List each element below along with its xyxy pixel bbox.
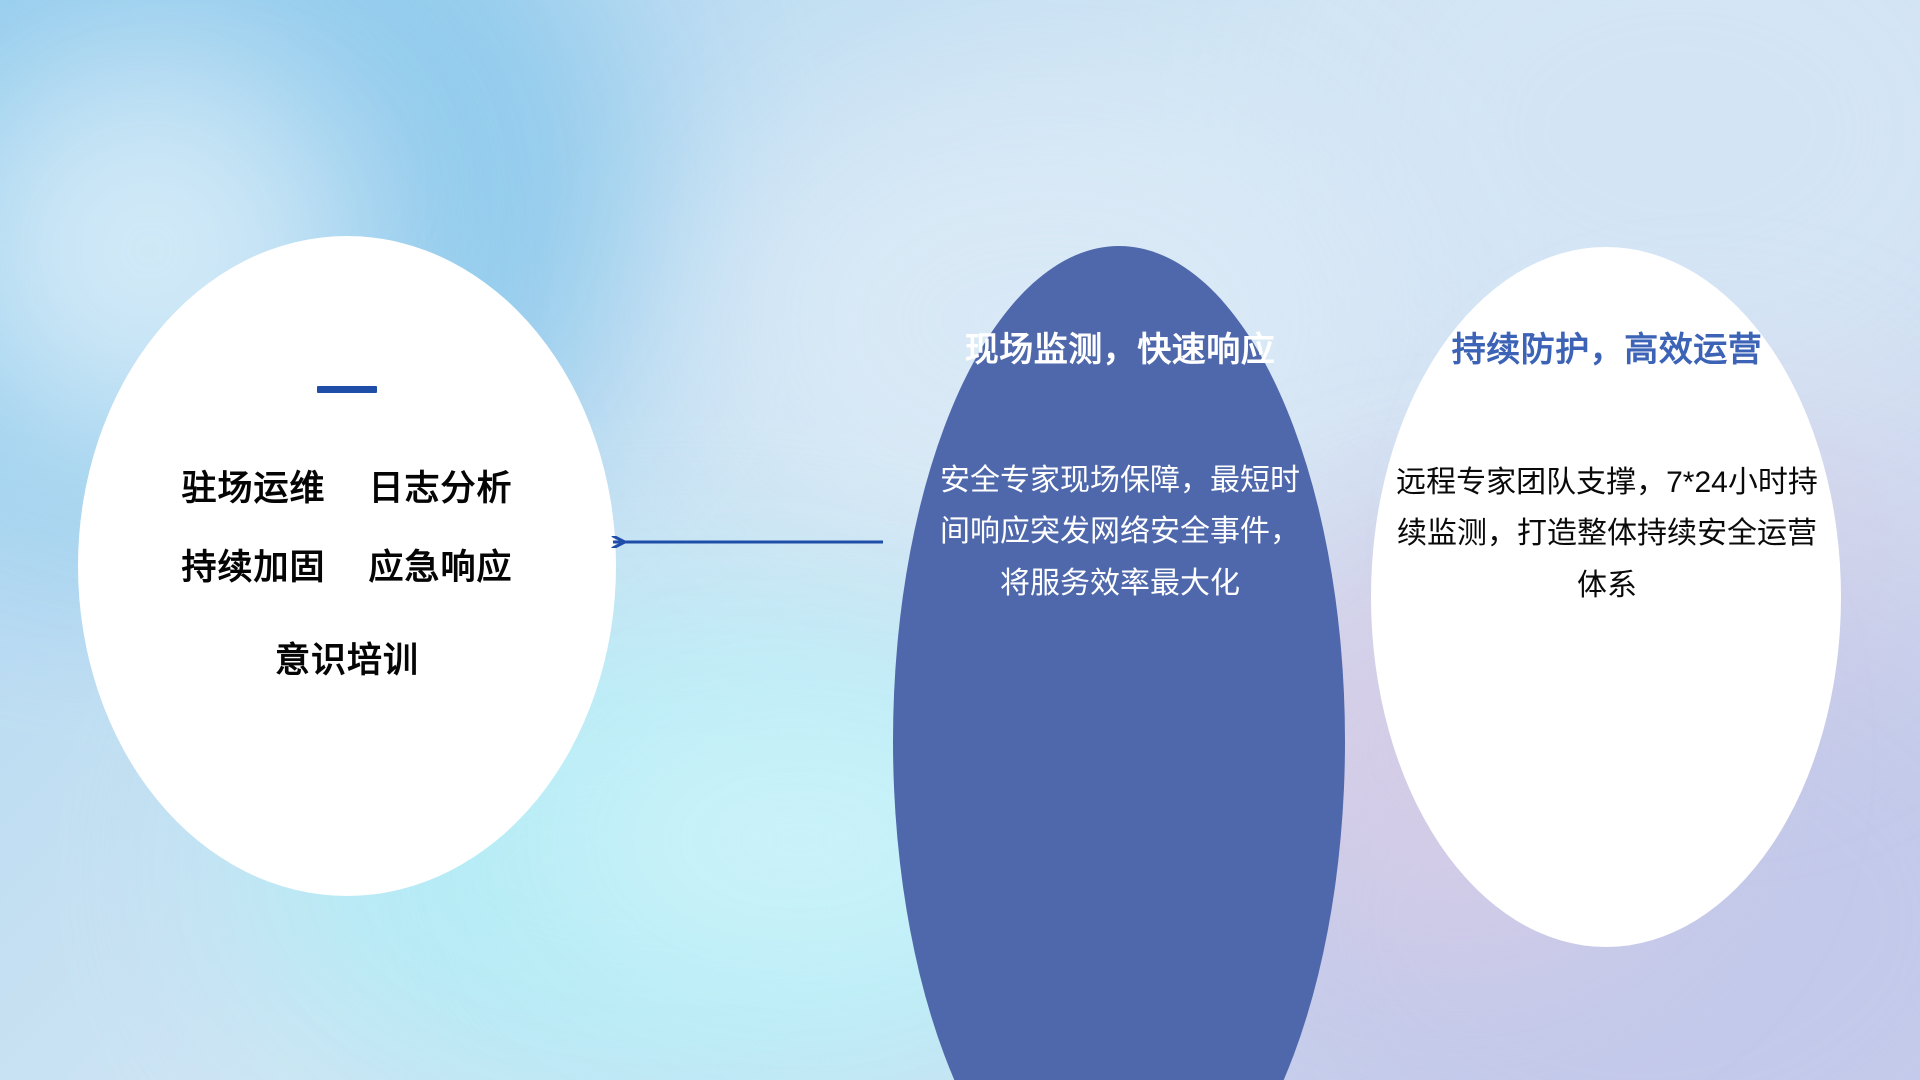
onsite-monitoring-content: 现场监测，快速响应 安全专家现场保障，最短时间响应突发网络安全事件，将服务效率最… — [905, 330, 1335, 610]
continuous-protection-title: 持续防护，高效运营 — [1381, 330, 1833, 371]
onsite-monitoring-title: 现场监测，快速响应 — [905, 330, 1335, 371]
capability-line-1: 驻场运维 日志分析 — [182, 471, 513, 508]
continuous-protection-content: 持续防护，高效运营 远程专家团队支撑，7*24小时持续监测，打造整体持续安全运营… — [1381, 330, 1833, 612]
slide-canvas: 驻场运维 日志分析 持续加固 应急响应 意识培训 现场监测，快速响应 安全专家现… — [0, 0, 1920, 1080]
capability-line-3: 意识培训 — [275, 643, 419, 680]
onsite-monitoring-body: 安全专家现场保障，最短时间响应突发网络安全事件，将服务效率最大化 — [905, 455, 1335, 610]
leftward-flow-arrow — [595, 515, 885, 569]
service-capability-content: 驻场运维 日志分析 持续加固 应急响应 意识培训 — [78, 236, 616, 896]
capability-line-2: 持续加固 应急响应 — [182, 550, 513, 587]
continuous-protection-body: 远程专家团队支撑，7*24小时持续监测，打造整体持续安全运营体系 — [1381, 457, 1833, 612]
accent-divider — [317, 386, 377, 393]
